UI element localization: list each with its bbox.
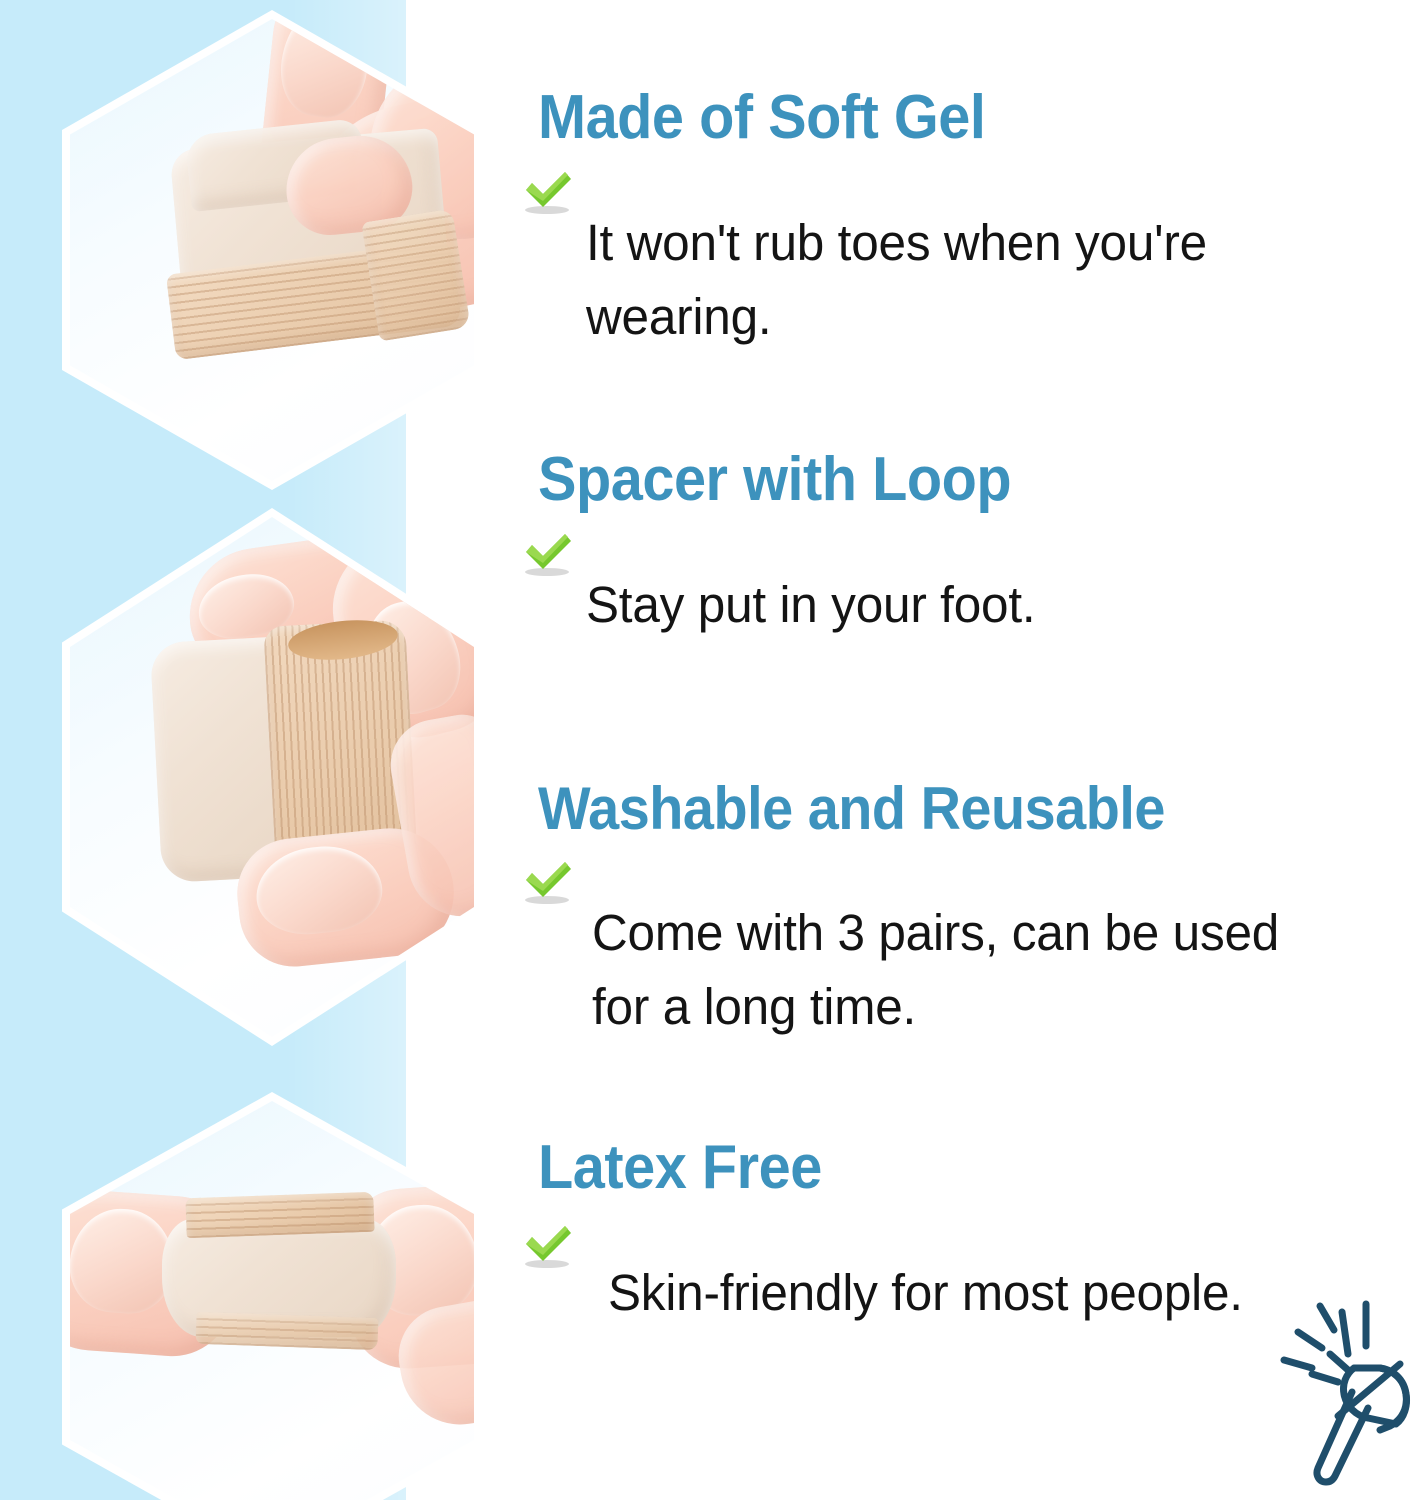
feature-bullet-text-3: Come with 3 pairs, can be used for a lon… [592, 896, 1329, 1044]
feature-title-4: Latex Free [538, 1136, 1358, 1199]
feature-block-washable-and-reusable: Washable and Reusable Come with 3 pairs,… [520, 778, 1420, 1095]
megaphone-announcement-icon [1268, 1288, 1418, 1488]
feature-bullet-row-1: It won't rub toes when you're wearing. [520, 155, 1420, 405]
feature-bullet-text-4: Skin-friendly for most people. [608, 1256, 1243, 1330]
product-feature-poster: Made of Soft Gel It won't rub toes when … [0, 0, 1428, 1500]
feature-title-3: Washable and Reusable [538, 778, 1358, 839]
feature-block-spacer-with-loop: Spacer with Loop Stay put in your foot. [520, 448, 1420, 693]
feature-title-1: Made of Soft Gel [538, 86, 1358, 149]
feature-title-2: Spacer with Loop [538, 448, 1358, 511]
feature-bullet-text-2: Stay put in your foot. [586, 568, 1035, 642]
feature-bullet-row-3: Come with 3 pairs, can be used for a lon… [520, 845, 1420, 1095]
features-column: Made of Soft Gel It won't rub toes when … [520, 0, 1420, 1500]
green-check-icon [520, 1217, 576, 1273]
feature-bullet-text-1: It won't rub toes when you're wearing. [586, 206, 1391, 354]
feature-bullet-row-2: Stay put in your foot. [520, 517, 1420, 693]
green-check-icon [520, 525, 576, 581]
feature-block-made-of-soft-gel: Made of Soft Gel It won't rub toes when … [520, 86, 1420, 405]
green-check-icon [520, 853, 576, 909]
green-check-icon [520, 163, 576, 219]
